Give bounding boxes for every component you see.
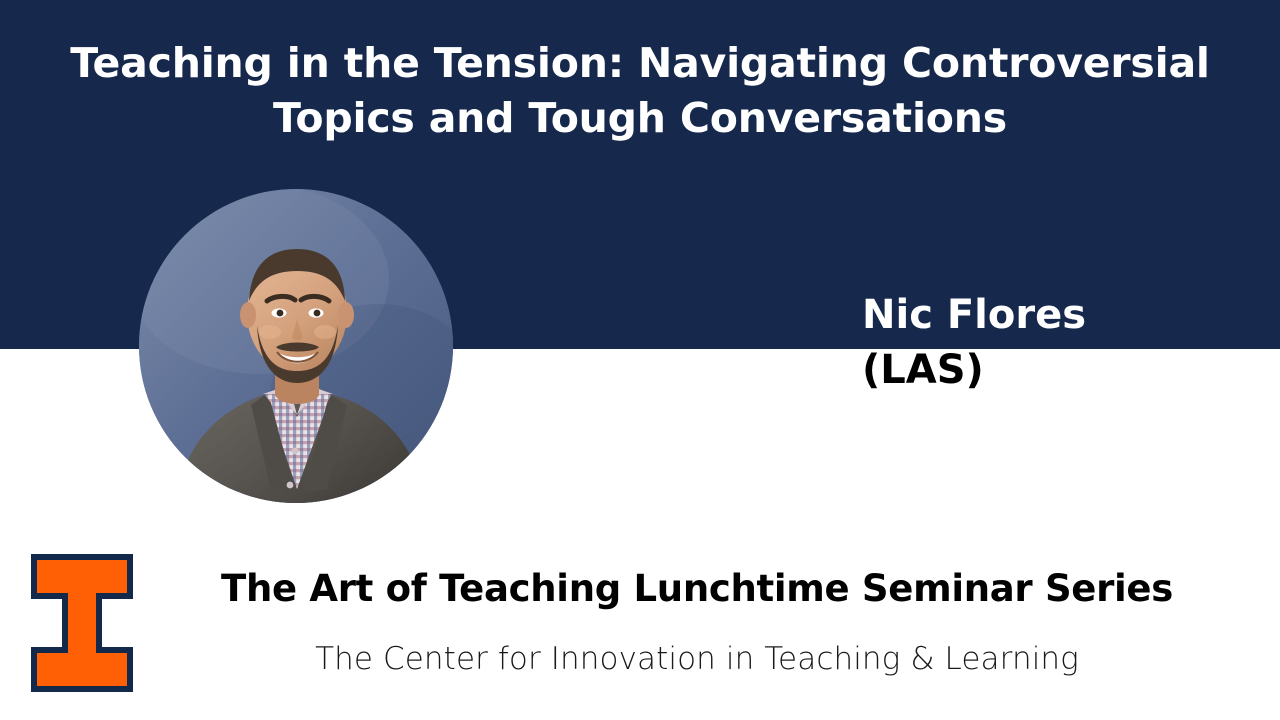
seminar-title-slide: Teaching in the Tension: Navigating Cont…	[0, 0, 1280, 720]
seminar-series-subtitle: The Center for Innovation in Teaching & …	[152, 638, 1242, 680]
presenter-affiliation: (LAS)	[862, 343, 1260, 398]
page-title: Teaching in the Tension: Navigating Cont…	[40, 36, 1240, 146]
seminar-series-title: The Art of Teaching Lunchtime Seminar Se…	[152, 565, 1242, 613]
portrait-illustration	[139, 189, 453, 503]
block-i-shape	[34, 557, 130, 689]
university-of-illinois-block-i-icon	[31, 554, 133, 692]
presenter-portrait	[139, 189, 453, 503]
presenter-name: Nic Flores	[862, 288, 1260, 343]
presenter-block: Nic Flores (LAS)	[700, 288, 1260, 398]
